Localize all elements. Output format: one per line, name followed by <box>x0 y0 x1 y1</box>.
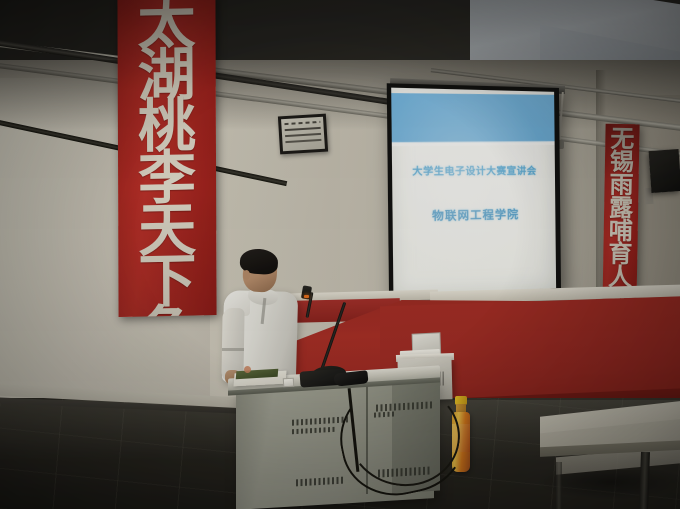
banner-right-char-0: 无 <box>610 128 634 151</box>
slide-title: 大学生电子设计大赛宣讲会 <box>392 163 555 178</box>
banner-left-char-6: 争 <box>139 305 197 317</box>
banner-right-char-1: 锡 <box>610 151 634 174</box>
framed-notice <box>278 114 328 155</box>
slide-header-band <box>391 93 556 143</box>
wall-speaker-icon <box>649 149 680 193</box>
slide-subtitle: 物联网工程学院 <box>392 205 555 225</box>
desk-small-item[interactable] <box>244 366 251 373</box>
desk-cup[interactable] <box>283 378 294 388</box>
lecture-hall-photo: 太 湖 桃 李 天 下 争 艳 无 锡 雨 露 哺 育 人 才 大学生电子设计大… <box>0 0 680 509</box>
wall-shadow <box>0 60 680 130</box>
banner-left: 太 湖 桃 李 天 下 争 艳 <box>117 0 216 317</box>
projection-screen-surface: 大学生电子设计大赛宣讲会 物联网工程学院 <box>391 88 556 296</box>
presenter-ear <box>243 270 250 280</box>
banner-right: 无 锡 雨 露 哺 育 人 才 <box>602 124 639 311</box>
banner-right-char-2: 雨 <box>609 174 633 197</box>
framed-notice-paper <box>281 117 325 152</box>
banner-right-char-3: 露 <box>609 197 633 220</box>
microphone-status-led <box>304 295 309 298</box>
projection-screen: 大学生电子设计大赛宣讲会 物联网工程学院 <box>387 83 561 301</box>
banner-right-char-4: 哺 <box>609 220 633 243</box>
table-leg-rear <box>556 462 562 509</box>
presenter-sleeve-cuff <box>222 348 244 351</box>
